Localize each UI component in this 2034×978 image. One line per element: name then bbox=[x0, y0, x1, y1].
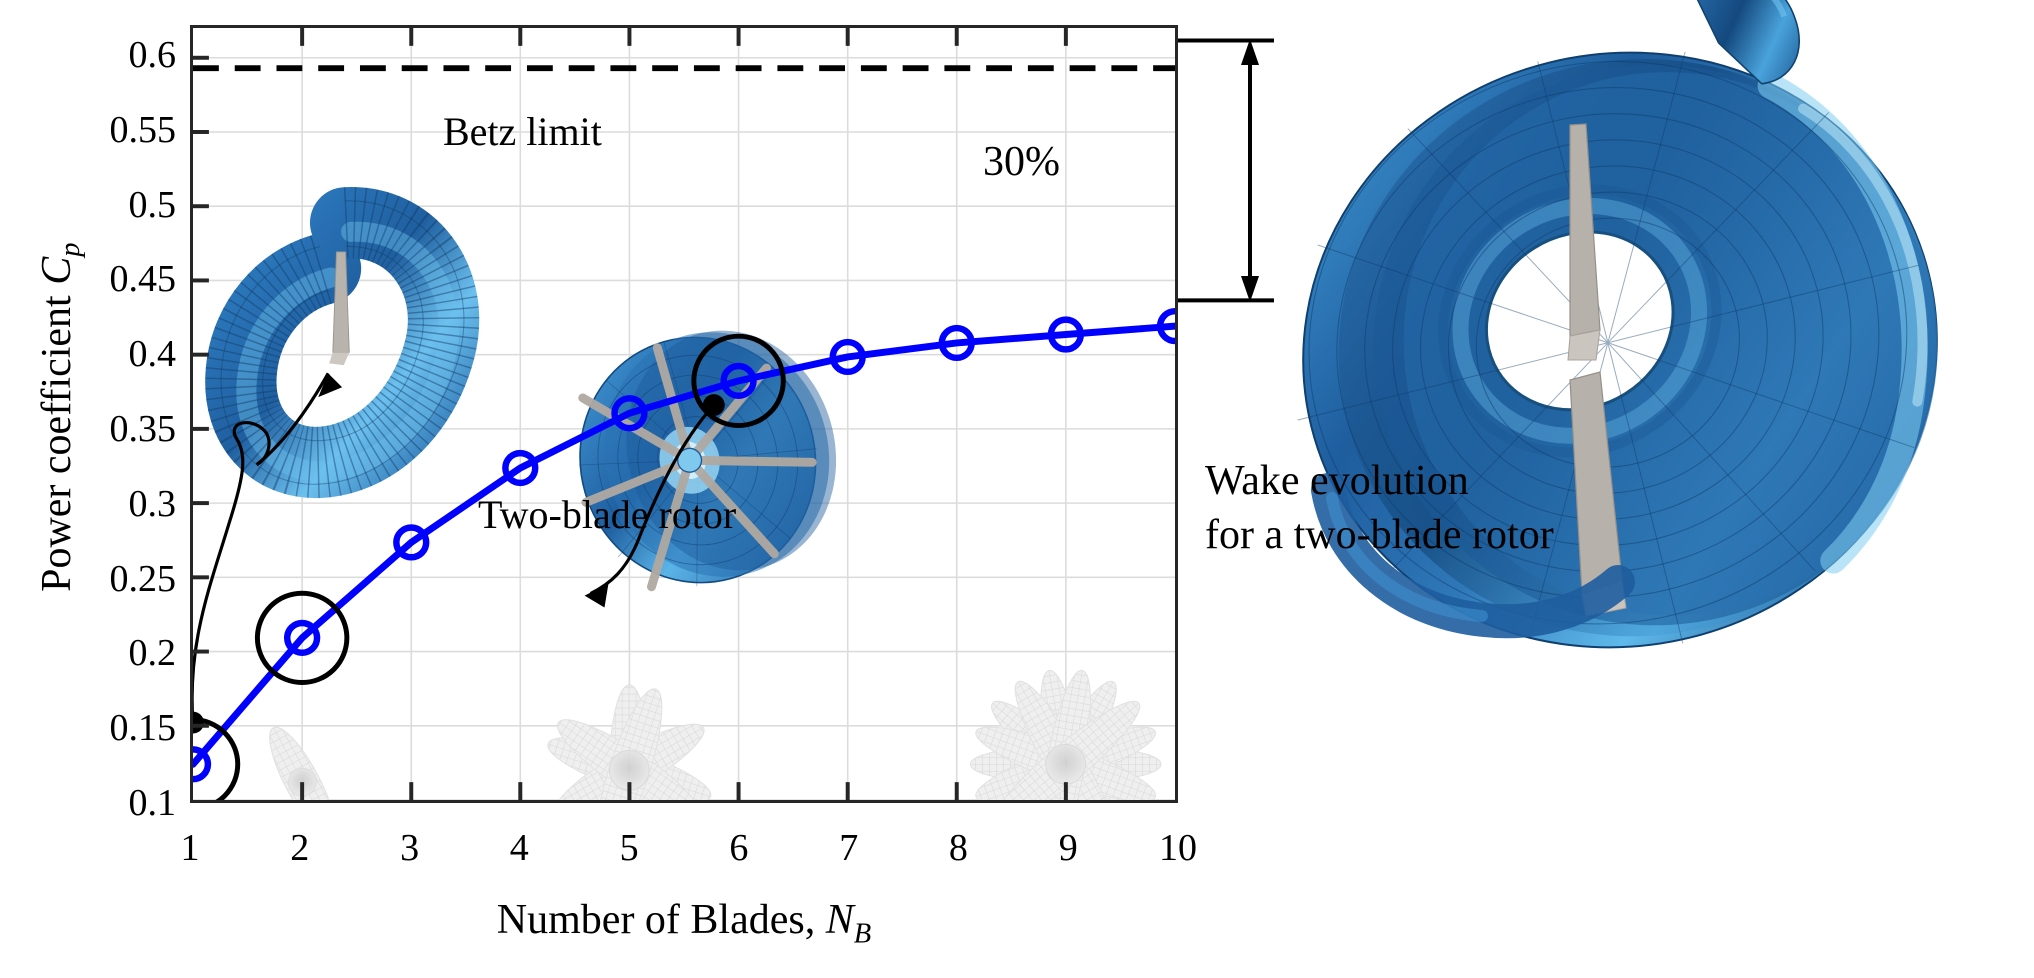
x-tick-label: 2 bbox=[290, 826, 309, 870]
x-axis-label-text: Number of Blades, bbox=[497, 897, 826, 943]
ghost-rotor-5-blade bbox=[542, 683, 717, 800]
wake-caption-line-2: for a two-blade rotor bbox=[1205, 509, 1725, 563]
two-blade-rotor-annotation: Two-blade rotor bbox=[478, 491, 736, 538]
x-tick-label: 3 bbox=[400, 826, 419, 870]
x-tick-label: 6 bbox=[729, 826, 748, 870]
y-tick-label: 0.5 bbox=[129, 183, 177, 227]
y-tick-label: 0.25 bbox=[110, 557, 177, 601]
x-tick-label: 5 bbox=[620, 826, 639, 870]
x-tick-label: 1 bbox=[181, 826, 200, 870]
x-tick-label: 7 bbox=[839, 826, 858, 870]
y-tick-label: 0.35 bbox=[110, 407, 177, 451]
two-blade-wake-inset bbox=[221, 201, 464, 484]
x-tick-label: 4 bbox=[510, 826, 529, 870]
betz-limit-annotation: Betz limit bbox=[443, 108, 602, 155]
y-tick-label: 0.55 bbox=[110, 108, 177, 152]
y-tick-label: 0.1 bbox=[129, 781, 177, 825]
leader-arrowhead-six-blade bbox=[585, 584, 609, 608]
wake-evolution-panel: Wake evolution for a two-blade rotor bbox=[1240, 0, 2034, 978]
y-tick-label: 0.15 bbox=[110, 706, 177, 750]
x-axis-tick-labels: 1 2 3 4 5 6 7 8 9 10 bbox=[0, 826, 1240, 886]
x-axis-label-symbol-subscript: B bbox=[854, 918, 871, 949]
wake-evolution-render bbox=[1240, 0, 2001, 721]
wake-evolution-caption: Wake evolution for a two-blade rotor bbox=[1205, 455, 1725, 563]
x-tick-label: 10 bbox=[1159, 826, 1197, 870]
x-axis-label-symbol: N bbox=[826, 897, 854, 943]
x-tick-label: 9 bbox=[1059, 826, 1078, 870]
figure-root: Power coefficient Cp 0.1 0.15 0.2 0.25 0… bbox=[0, 0, 2034, 978]
y-tick-label: 0.2 bbox=[129, 631, 177, 675]
power-coefficient-chart-panel: Power coefficient Cp 0.1 0.15 0.2 0.25 0… bbox=[0, 0, 1240, 978]
x-axis-label: Number of Blades, NB bbox=[190, 896, 1178, 950]
callout-anchor-dot-one-blade bbox=[193, 712, 204, 734]
y-tick-label: 0.6 bbox=[129, 33, 177, 77]
gap-percent-label: 30% bbox=[983, 138, 1060, 186]
y-tick-label: 0.3 bbox=[129, 482, 177, 526]
y-tick-label: 0.45 bbox=[110, 257, 177, 301]
x-tick-label: 8 bbox=[949, 826, 968, 870]
y-tick-label: 0.4 bbox=[129, 332, 177, 376]
wake-caption-line-1: Wake evolution bbox=[1205, 455, 1725, 509]
